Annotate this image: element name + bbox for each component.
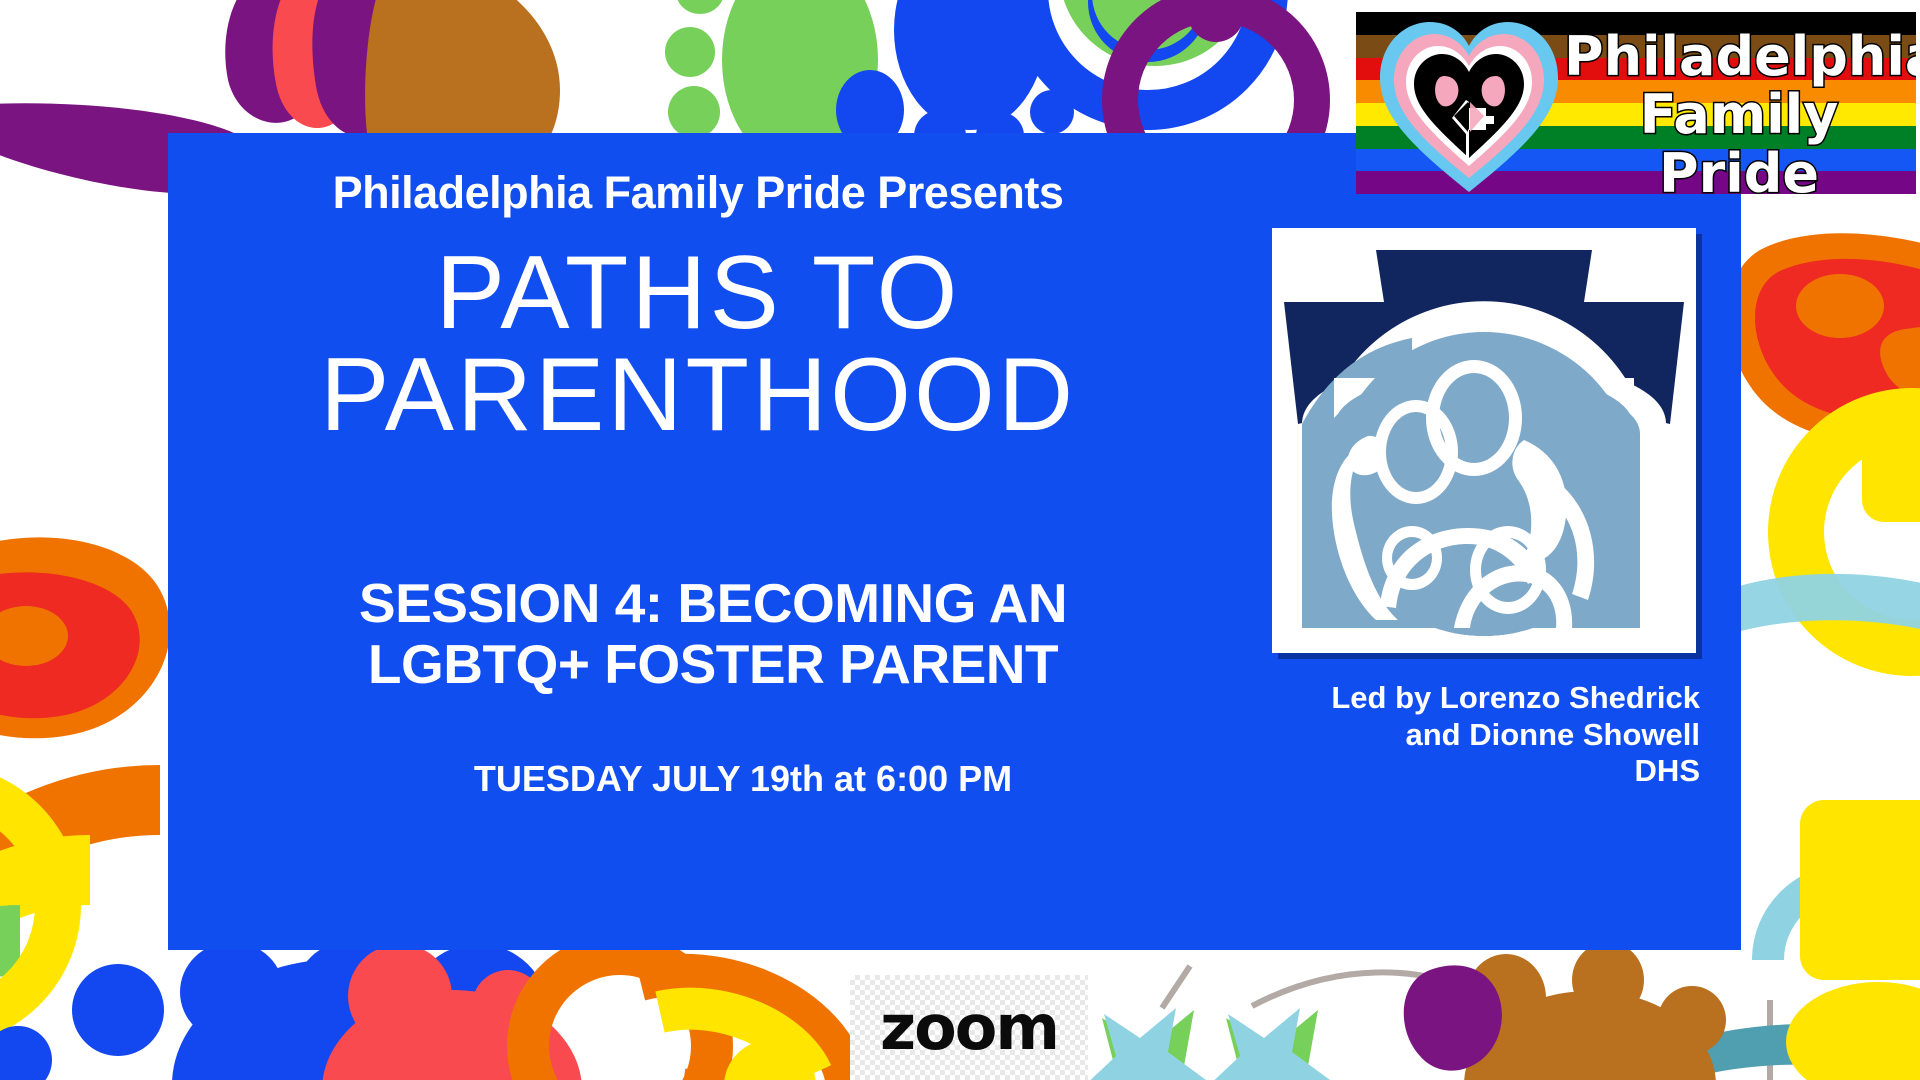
flyer-text-block: Philadelphia Family Pride Presents PATHS…	[168, 133, 1268, 950]
presenter-line-1: Led by Lorenzo Shedrick	[1250, 680, 1700, 717]
page-title: PATHS TO PARENTHOOD	[168, 243, 1228, 447]
philadelphia-family-pride-logo: Philadelphia Family Pride	[1356, 12, 1916, 194]
session-line-1: SESSION 4: BECOMING AN	[198, 573, 1228, 634]
pfp-text-line-1: Philadelphia	[1564, 28, 1914, 86]
keystone-family-icon	[1272, 228, 1696, 653]
pfp-heart-icon	[1374, 16, 1564, 194]
paw-coral-bottom	[322, 944, 582, 1080]
dhs-logo	[1272, 228, 1696, 653]
hanging-star-3	[1074, 1008, 1234, 1080]
swirl-orange-bottom	[528, 954, 847, 1080]
presenter-line-2: and Dionne Showell	[1250, 717, 1700, 754]
pfp-text-line-2: Family Pride	[1564, 86, 1914, 194]
rainbow-arc-left	[0, 800, 160, 1080]
hanging-star-4	[1198, 1008, 1358, 1080]
session-subtitle: SESSION 4: BECOMING AN LGBTQ+ FOSTER PAR…	[198, 573, 1228, 694]
paw-blue-bottomleft	[0, 942, 548, 1080]
flyer-canvas: Philadelphia Family Pride Presents PATHS…	[0, 0, 1920, 1080]
title-line-1: PATHS TO	[168, 243, 1228, 345]
presenter-line-3: DHS	[1250, 753, 1700, 790]
title-line-2: PARENTHOOD	[168, 345, 1228, 447]
session-line-2: LGBTQ+ FOSTER PARENT	[198, 634, 1228, 695]
zoom-wordmark: zoom	[880, 991, 1058, 1064]
zoom-logo: zoom	[850, 975, 1088, 1080]
pacifier-left	[0, 537, 170, 1023]
purple-blob-bottom	[1404, 965, 1502, 1070]
yellow-block-bottomright	[1786, 800, 1920, 1080]
pacifier-right	[1728, 233, 1920, 648]
pfp-logo-text: Philadelphia Family Pride	[1564, 28, 1914, 194]
presenter-credits: Led by Lorenzo Shedrick and Dionne Showe…	[1250, 680, 1700, 790]
event-datetime: TUESDAY JULY 19th at 6:00 PM	[228, 758, 1258, 800]
presenter-org-line: Philadelphia Family Pride Presents	[168, 167, 1228, 219]
paw-brown-bottomright	[1464, 942, 1726, 1080]
